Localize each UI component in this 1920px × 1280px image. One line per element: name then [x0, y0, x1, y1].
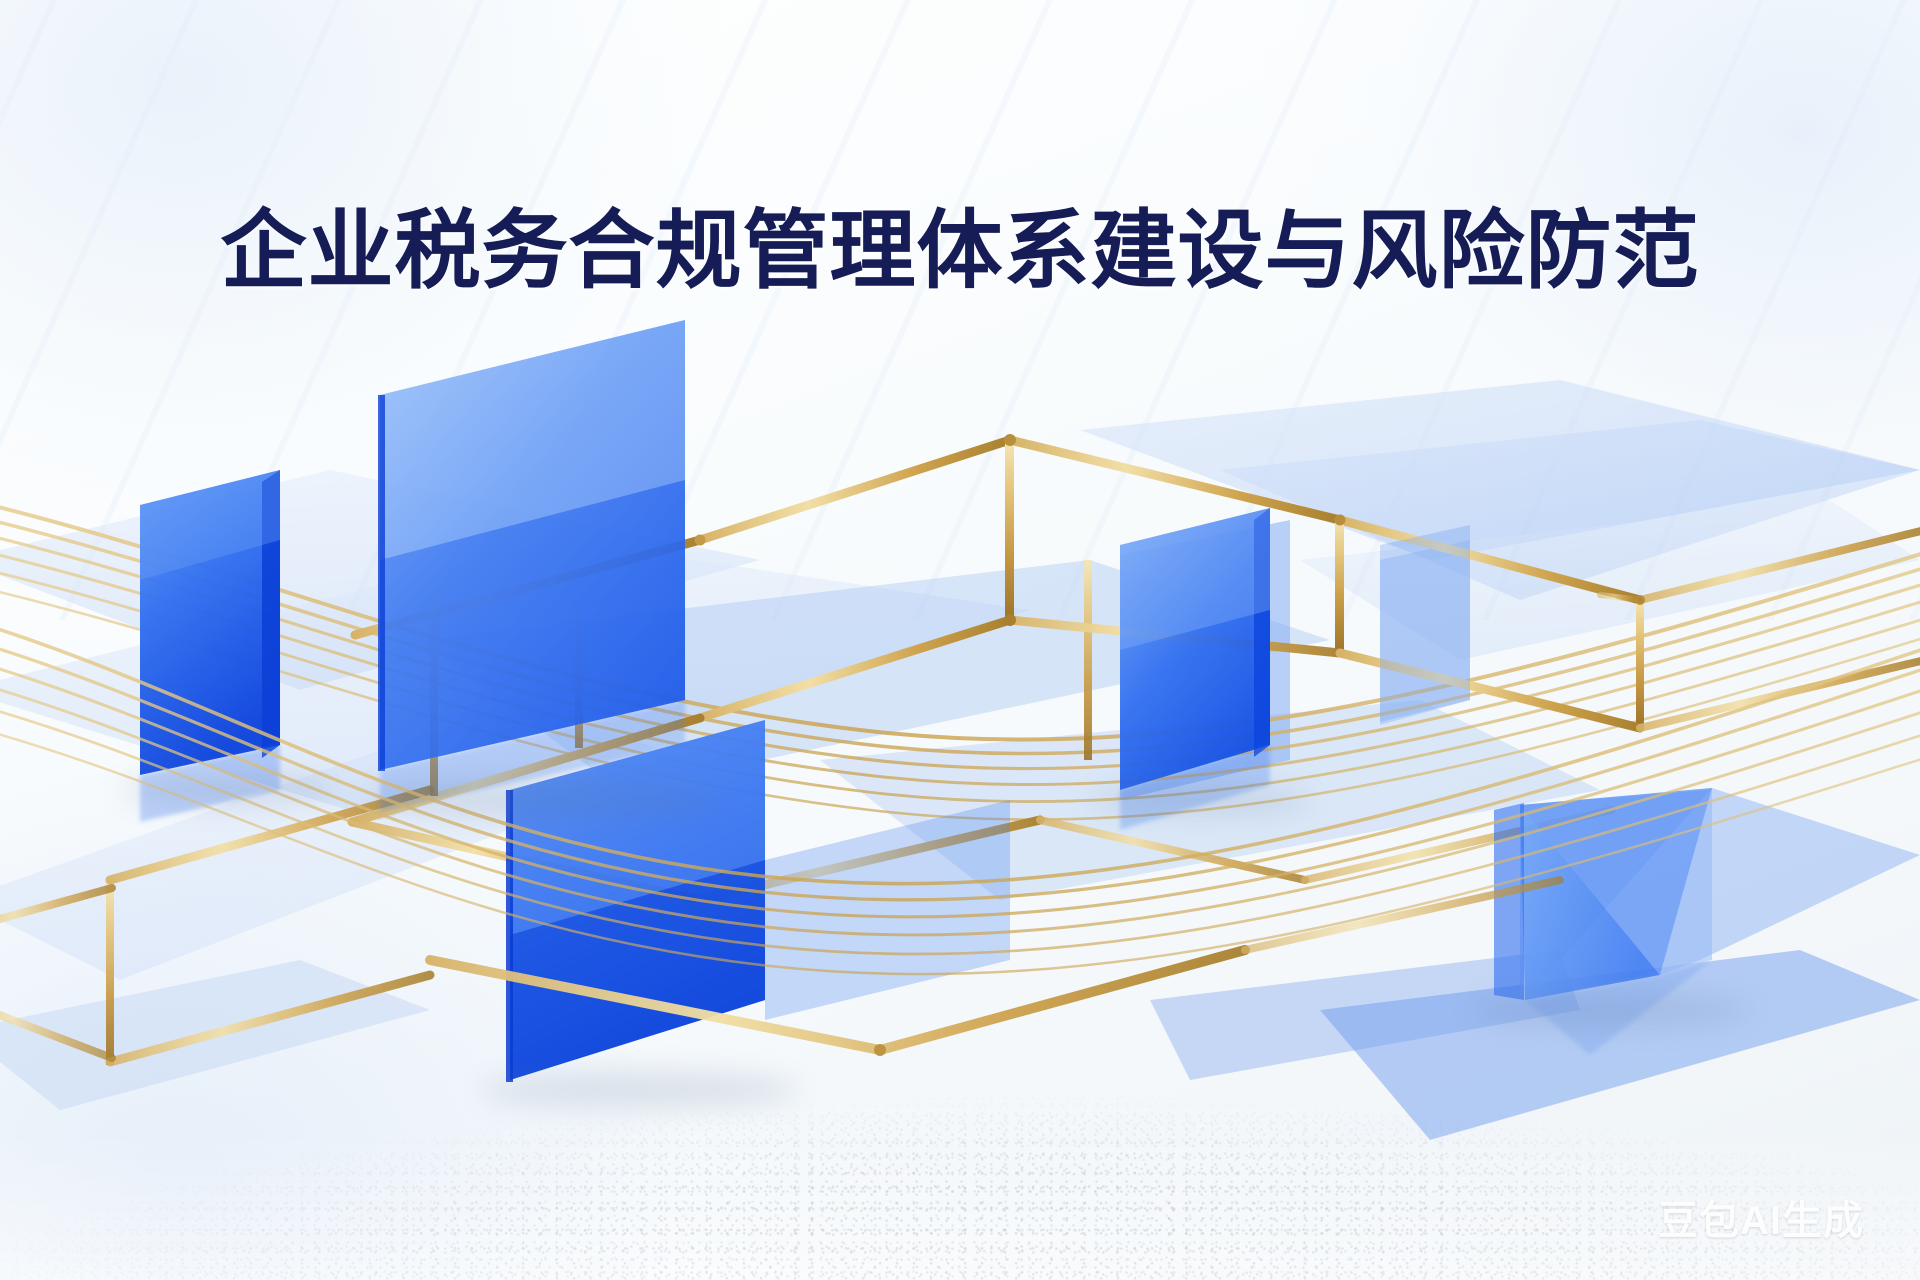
grain-texture-band	[0, 990, 1920, 1280]
gold-rails-lower	[430, 595, 1640, 1056]
page-title: 企业税务合规管理体系建设与风险防范	[0, 206, 1920, 296]
gold-wireframe-cube	[352, 434, 1920, 900]
blue-glass-panels-back	[1120, 520, 1470, 800]
background-striations	[0, 0, 1920, 620]
gold-wire-bundle-upper	[0, 500, 1920, 820]
gold-wire-bundle-lower	[0, 620, 1920, 974]
grain-fade-overlay	[0, 1130, 1920, 1280]
blue-glass-panels-front	[140, 320, 1470, 1082]
abstract-3d-scene	[0, 0, 1920, 1280]
slide-canvas: 企业税务合规管理体系建设与风险防范 豆包AI生成	[0, 0, 1920, 1280]
pale-floor-planes	[0, 380, 1920, 1140]
contact-shadows	[120, 774, 1750, 1108]
gold-frame-lower-left	[0, 596, 438, 1065]
ai-watermark: 豆包AI生成	[1658, 1188, 1864, 1246]
blue-glass-prism	[1494, 788, 1920, 1055]
ambient-wash-bottom-left	[0, 640, 840, 1280]
